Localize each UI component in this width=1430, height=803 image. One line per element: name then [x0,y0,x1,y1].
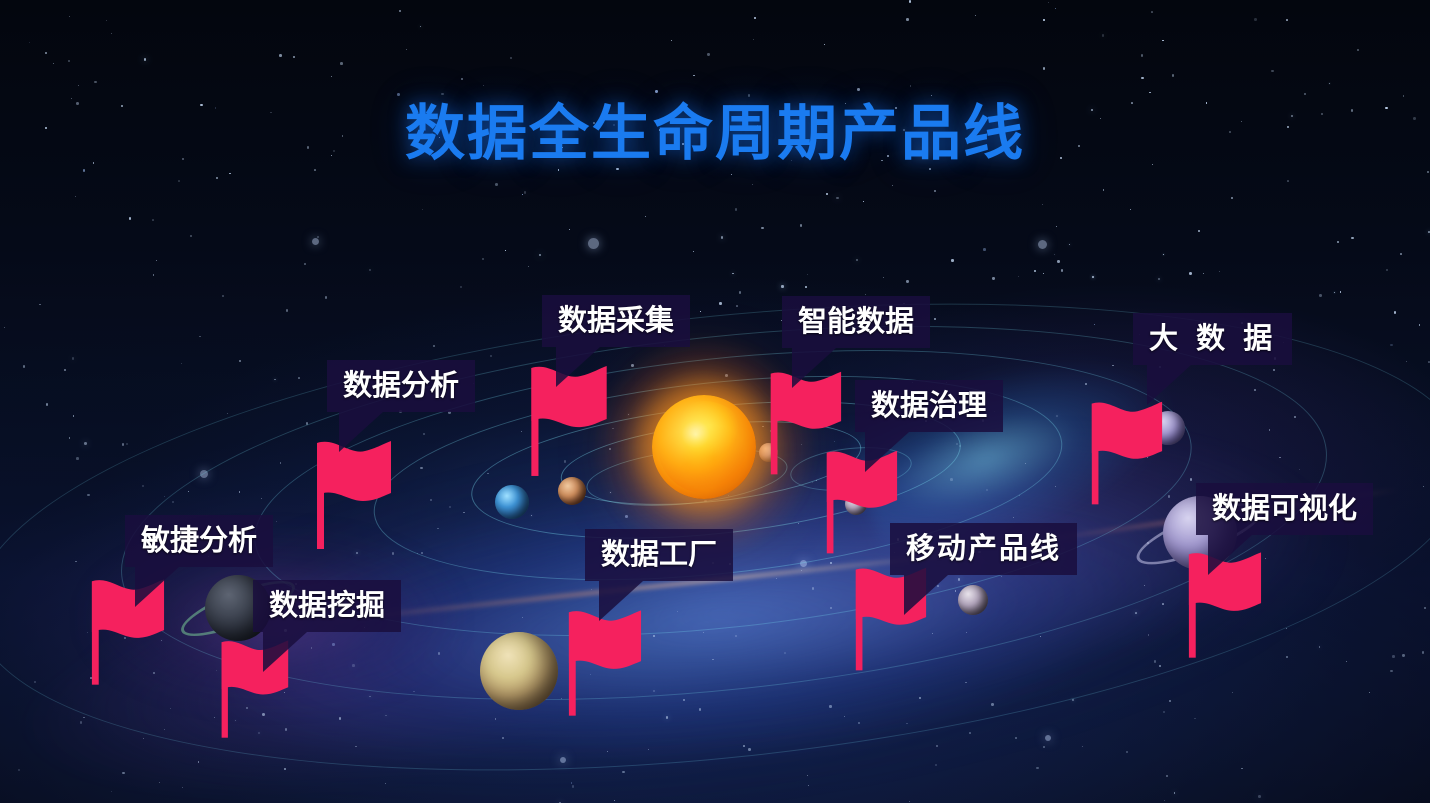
label-data-governance-text: 数据治理 [871,388,987,422]
flag-data-analysis-icon[interactable] [313,440,393,552]
planet-jupiter-icon [480,632,558,710]
sun-texture [658,401,750,493]
label-intelligent-data[interactable]: 智能数据 [782,296,930,348]
label-agile-analysis-pointer-icon [135,567,179,607]
label-agile-analysis[interactable]: 敏捷分析 [125,515,273,567]
label-data-collection-text: 数据采集 [558,303,674,337]
label-data-governance[interactable]: 数据治理 [855,380,1003,432]
planet-mars-icon [558,477,586,505]
flag-big-data-icon[interactable] [1088,400,1164,508]
label-data-analysis[interactable]: 数据分析 [327,360,475,412]
sun-icon [652,395,756,499]
label-mobile-product-line[interactable]: 移动产品线 [890,523,1077,575]
label-data-collection-pointer-icon [556,347,600,387]
label-data-factory-text: 数据工厂 [601,537,717,571]
label-data-mining-pointer-icon [263,632,307,672]
label-big-data[interactable]: 大 数 据 [1133,313,1292,365]
label-agile-analysis-text: 敏捷分析 [141,523,257,557]
page-title: 数据全生命周期产品线 [0,85,1430,172]
label-intelligent-data-text: 智能数据 [798,304,914,338]
label-data-mining-text: 数据挖掘 [269,588,385,622]
label-big-data-pointer-icon [1147,365,1191,405]
label-data-visualization-text: 数据可视化 [1212,491,1357,525]
planet-earth-icon [495,485,529,519]
flag-data-factory-icon[interactable] [565,610,643,718]
planet-moon-icon [958,585,988,615]
label-data-governance-pointer-icon [865,432,909,472]
slide-canvas: 敏捷分析数据挖掘数据分析数据采集数据工厂智能数据数据治理移动产品线大 数 据数据… [0,0,1430,803]
label-big-data-text: 大 数 据 [1149,321,1276,355]
label-data-visualization[interactable]: 数据可视化 [1196,483,1373,535]
label-data-analysis-pointer-icon [339,412,383,452]
label-data-factory-pointer-icon [599,581,643,621]
label-data-analysis-text: 数据分析 [343,368,459,402]
label-data-factory[interactable]: 数据工厂 [585,529,733,581]
label-intelligent-data-pointer-icon [792,348,836,388]
label-data-visualization-pointer-icon [1208,535,1252,575]
label-mobile-product-line-pointer-icon [904,575,948,615]
label-mobile-product-line-text: 移动产品线 [906,531,1061,565]
label-data-mining[interactable]: 数据挖掘 [253,580,401,632]
sun-core [652,395,756,499]
label-data-collection[interactable]: 数据采集 [542,295,690,347]
